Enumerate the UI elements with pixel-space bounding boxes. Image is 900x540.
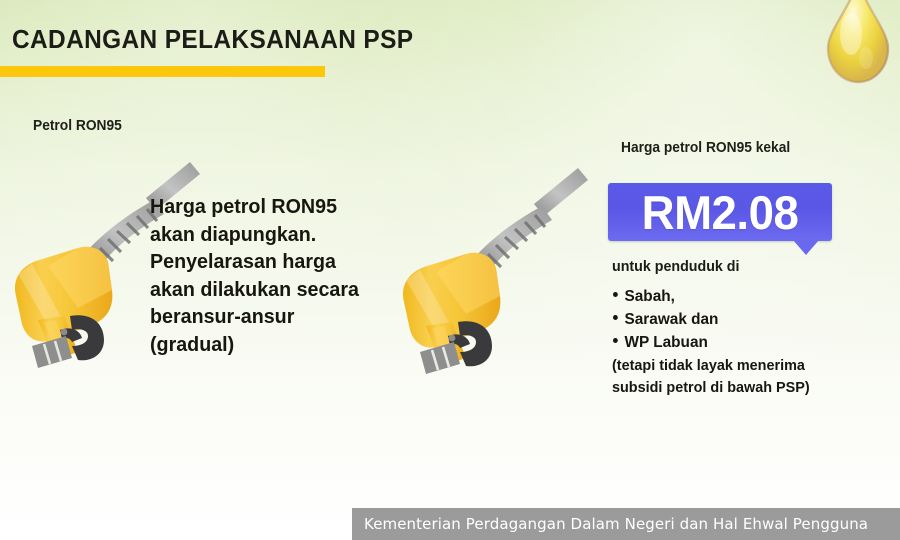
left-body-line: Harga petrol RON95 — [150, 193, 390, 221]
left-body-line: (gradual) — [150, 331, 390, 359]
petrol-ron95-caption: Petrol RON95 — [33, 118, 122, 134]
left-body-text: Harga petrol RON95 akan diapungkan. Peny… — [150, 193, 390, 358]
note-line: subsidi petrol di bawah PSP) — [612, 377, 852, 399]
fuel-nozzle-icon — [396, 146, 596, 376]
bullet-icon — [613, 292, 618, 297]
left-body-line: Penyelarasan harga — [150, 248, 390, 276]
list-item: Sabah, — [613, 285, 843, 308]
list-item: WP Labuan — [613, 331, 843, 354]
eligibility-note: (tetapi tidak layak menerima subsidi pet… — [612, 355, 852, 399]
note-line: (tetapi tidak layak menerima — [612, 355, 852, 377]
price-value: RM2.08 — [611, 183, 828, 241]
infographic-root: CADANGAN PELAKSANAAN PSP Petrol RON95 — [0, 0, 900, 540]
list-item-label: Sarawak dan — [625, 311, 719, 328]
right-panel-heading: Harga petrol RON95 kekal — [621, 140, 790, 156]
price-sub-label: untuk penduduk di — [612, 258, 739, 275]
price-callout-box: RM2.08 — [608, 183, 832, 241]
footer-banner: Kementerian Perdagangan Dalam Negeri dan… — [352, 508, 900, 540]
left-body-line: beransur-ansur — [150, 303, 390, 331]
left-body-line: akan diapungkan. — [150, 221, 390, 249]
region-list: Sabah, Sarawak dan WP Labuan — [613, 285, 853, 354]
title-underline-bar — [0, 66, 325, 77]
price-callout-tail — [793, 240, 819, 255]
footer-text: Kementerian Perdagangan Dalam Negeri dan… — [364, 508, 868, 540]
page-title: CADANGAN PELAKSANAAN PSP — [12, 24, 413, 55]
bullet-icon — [613, 338, 618, 343]
list-item-label: WP Labuan — [625, 334, 708, 351]
list-item-label: Sabah, — [625, 288, 675, 305]
left-body-line: akan dilakukan secara — [150, 276, 390, 304]
oil-droplet-icon — [818, 0, 898, 86]
list-item: Sarawak dan — [613, 308, 843, 331]
bullet-icon — [613, 315, 618, 320]
